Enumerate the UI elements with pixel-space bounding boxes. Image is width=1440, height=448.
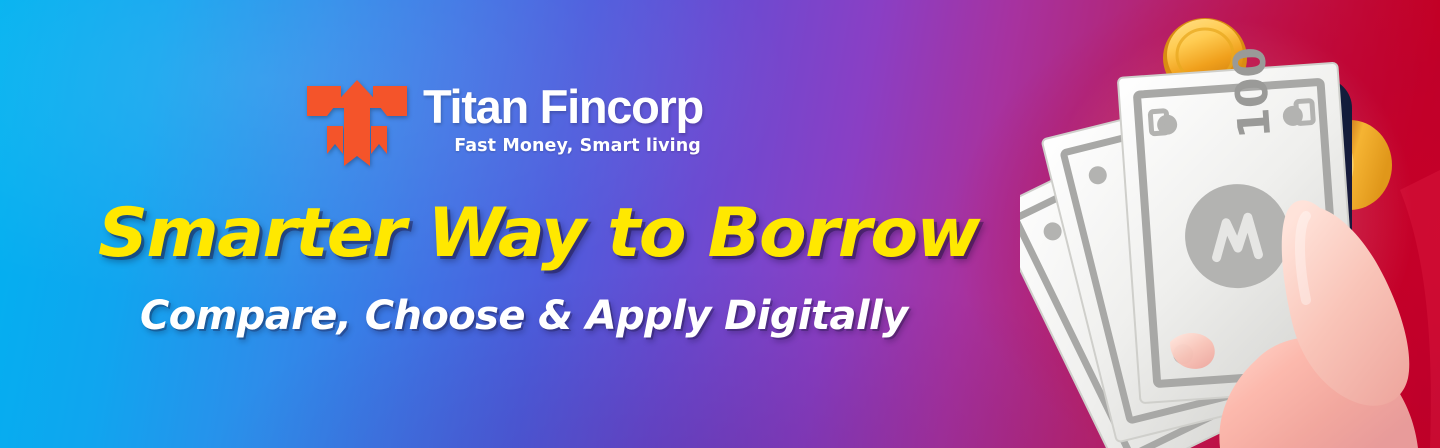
- titan-arrow-t-logo-icon: [305, 78, 409, 176]
- brand-name: Titan Fincorp: [423, 84, 703, 130]
- svg-text:100: 100: [1224, 45, 1281, 140]
- hand-holding-phone-with-cash-illustration: 100 100 100: [1020, 0, 1440, 448]
- banner-content: Titan Fincorp Fast Money, Smart living S…: [0, 0, 960, 448]
- headline: Smarter Way to Borrow: [98, 200, 979, 268]
- brand-text-group: Titan Fincorp Fast Money, Smart living: [423, 78, 703, 156]
- brand-logo-lockup[interactable]: Titan Fincorp Fast Money, Smart living: [305, 78, 703, 176]
- promotional-banner: Titan Fincorp Fast Money, Smart living S…: [0, 0, 1440, 448]
- subheadline: Compare, Choose & Apply Digitally: [140, 296, 908, 336]
- brand-tagline: Fast Money, Smart living: [454, 136, 701, 156]
